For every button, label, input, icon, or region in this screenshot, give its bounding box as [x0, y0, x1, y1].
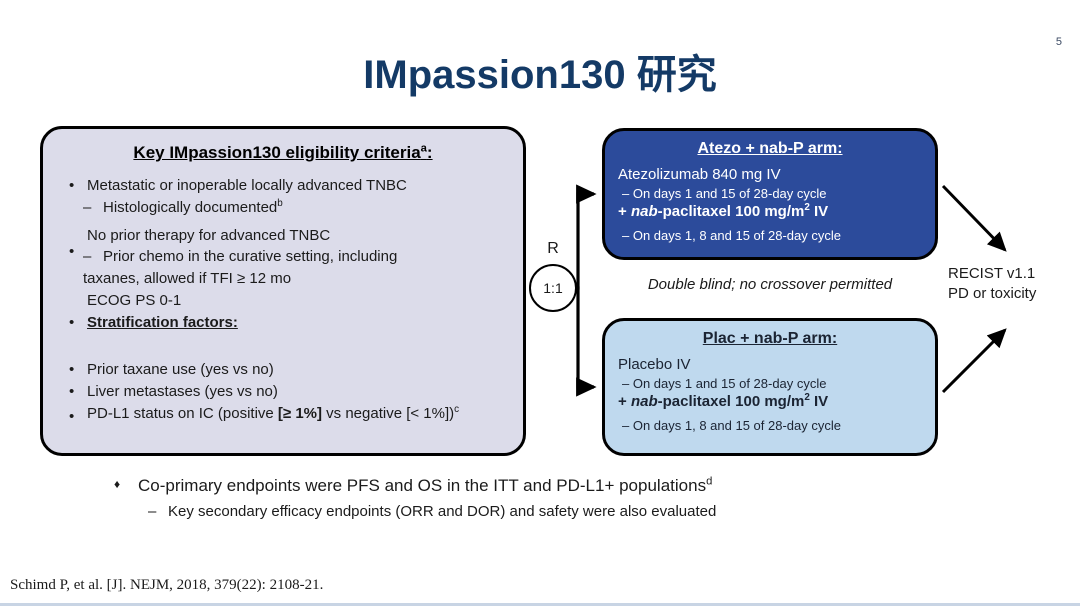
eligibility-item-1: • Metastatic or inoperable locally advan… — [55, 175, 511, 197]
bullet-glyph: • — [69, 312, 74, 334]
bullet-glyph: • — [69, 381, 74, 403]
primary-endpoints: ♦ Co-primary endpoints were PFS and OS i… — [112, 476, 912, 496]
randomization-ratio-node: 1:1 — [529, 264, 577, 312]
atezo-arm-title: Atezo + nab-P arm: — [605, 140, 935, 158]
slide-canvas: 5 IMpassion130 研究 Key IMpassion130 eligi… — [0, 0, 1080, 612]
recist-line-1: RECIST v1.1 — [948, 264, 1076, 284]
atezo-drug: Atezolizumab 840 mg IV — [618, 165, 935, 185]
footer-divider — [0, 603, 1080, 606]
eligibility-item-1-text: Metastatic or inoperable locally advance… — [87, 177, 407, 194]
pdl1-positive-threshold: [≥ 1%] — [278, 405, 322, 422]
placebo-schedule-1: – On days 1 and 15 of 28-day cycle — [618, 375, 935, 392]
randomization-label: R — [529, 240, 577, 258]
recist-outcome: RECIST v1.1 PD or toxicity — [948, 264, 1076, 305]
stratification-item-3: • PD-L1 status on IC (positive [≥ 1%] vs… — [55, 403, 511, 425]
page-title: IMpassion130 研究 — [0, 42, 1080, 100]
primary-endpoints-text: Co-primary endpoints were PFS and OS in … — [138, 476, 706, 495]
atezo-arm-box: Atezo + nab-P arm: Atezolizumab 840 mg I… — [602, 128, 938, 260]
atezo-schedule-2: – On days 1, 8 and 15 of 28-day cycle — [618, 227, 935, 244]
eligibility-list: • Metastatic or inoperable locally advan… — [43, 175, 523, 425]
eligibility-criteria-box: Key IMpassion130 eligibility criteriaa: … — [40, 126, 526, 456]
dash-glyph: – — [148, 503, 156, 520]
stratification-heading-row: • Stratification factors: — [55, 312, 511, 334]
source-citation: Schimd P, et al. [J]. NEJM, 2018, 379(22… — [10, 577, 323, 594]
bullet-glyph: • — [69, 359, 74, 381]
eligibility-item-2-sub-text: Prior chemo in the curative setting, inc… — [103, 248, 397, 265]
placebo-arm-box: Plac + nab-P arm: Placebo IV – On days 1… — [602, 318, 938, 456]
stratification-item-2: • Liver metastases (yes vs no) — [55, 381, 511, 403]
atezo-combo: + nab-paclitaxel 100 mg/m2 IV — [618, 202, 935, 222]
eligibility-item-1-sub: – Histologically documentedb — [55, 197, 511, 219]
placebo-combo: + nab-paclitaxel 100 mg/m2 IV — [618, 392, 935, 412]
eligibility-item-2-sub: – Prior chemo in the curative setting, i… — [55, 246, 511, 268]
dash-glyph: – — [83, 246, 91, 268]
eligibility-item-2-text: No prior therapy for advanced TNBC — [87, 227, 330, 244]
secondary-endpoints: – Key secondary efficacy endpoints (ORR … — [112, 503, 912, 520]
stratification-item-1-text: Prior taxane use (yes vs no) — [87, 361, 274, 378]
eligibility-item-2: • No prior therapy for advanced TNBC — [55, 225, 511, 247]
diamond-bullet-icon: ♦ — [114, 477, 120, 491]
stratification-heading: Stratification factors: — [87, 314, 238, 331]
placebo-arm-body: Placebo IV – On days 1 and 15 of 28-day … — [605, 355, 935, 434]
double-blind-note: Double blind; no crossover permitted — [602, 276, 938, 293]
atezo-arm-body: Atezolizumab 840 mg IV – On days 1 and 1… — [605, 165, 935, 244]
placebo-schedule-2: – On days 1, 8 and 15 of 28-day cycle — [618, 417, 935, 434]
stratification-item-2-text: Liver metastases (yes vs no) — [87, 383, 278, 400]
placebo-arm-title: Plac + nab-P arm: — [605, 330, 935, 348]
eligibility-item-1-sub-text: Histologically documented — [103, 199, 277, 216]
bullet-glyph: • — [69, 175, 74, 197]
recist-line-2: PD or toxicity — [948, 284, 1076, 304]
eligibility-item-3: ECOG PS 0-1 — [55, 290, 511, 312]
stratification-item-1: • Prior taxane use (yes vs no) — [55, 359, 511, 381]
secondary-endpoints-text: Key secondary efficacy endpoints (ORR an… — [168, 503, 716, 520]
placebo-drug: Placebo IV — [618, 355, 935, 375]
bullet-glyph: • — [69, 406, 74, 428]
stratification-item-3-text-b: vs negative [< 1%]) — [322, 405, 454, 422]
stratification-item-3-text-a: PD-L1 status on IC (positive — [87, 405, 278, 422]
eligibility-item-2-sub-cont: taxanes, allowed if TFI ≥ 12 mo — [55, 268, 511, 290]
endpoints-section: ♦ Co-primary endpoints were PFS and OS i… — [112, 476, 912, 520]
dash-glyph: – — [83, 197, 91, 219]
eligibility-heading: Key IMpassion130 eligibility criteriaa: — [43, 143, 523, 163]
atezo-schedule-1: – On days 1 and 15 of 28-day cycle — [618, 185, 935, 202]
